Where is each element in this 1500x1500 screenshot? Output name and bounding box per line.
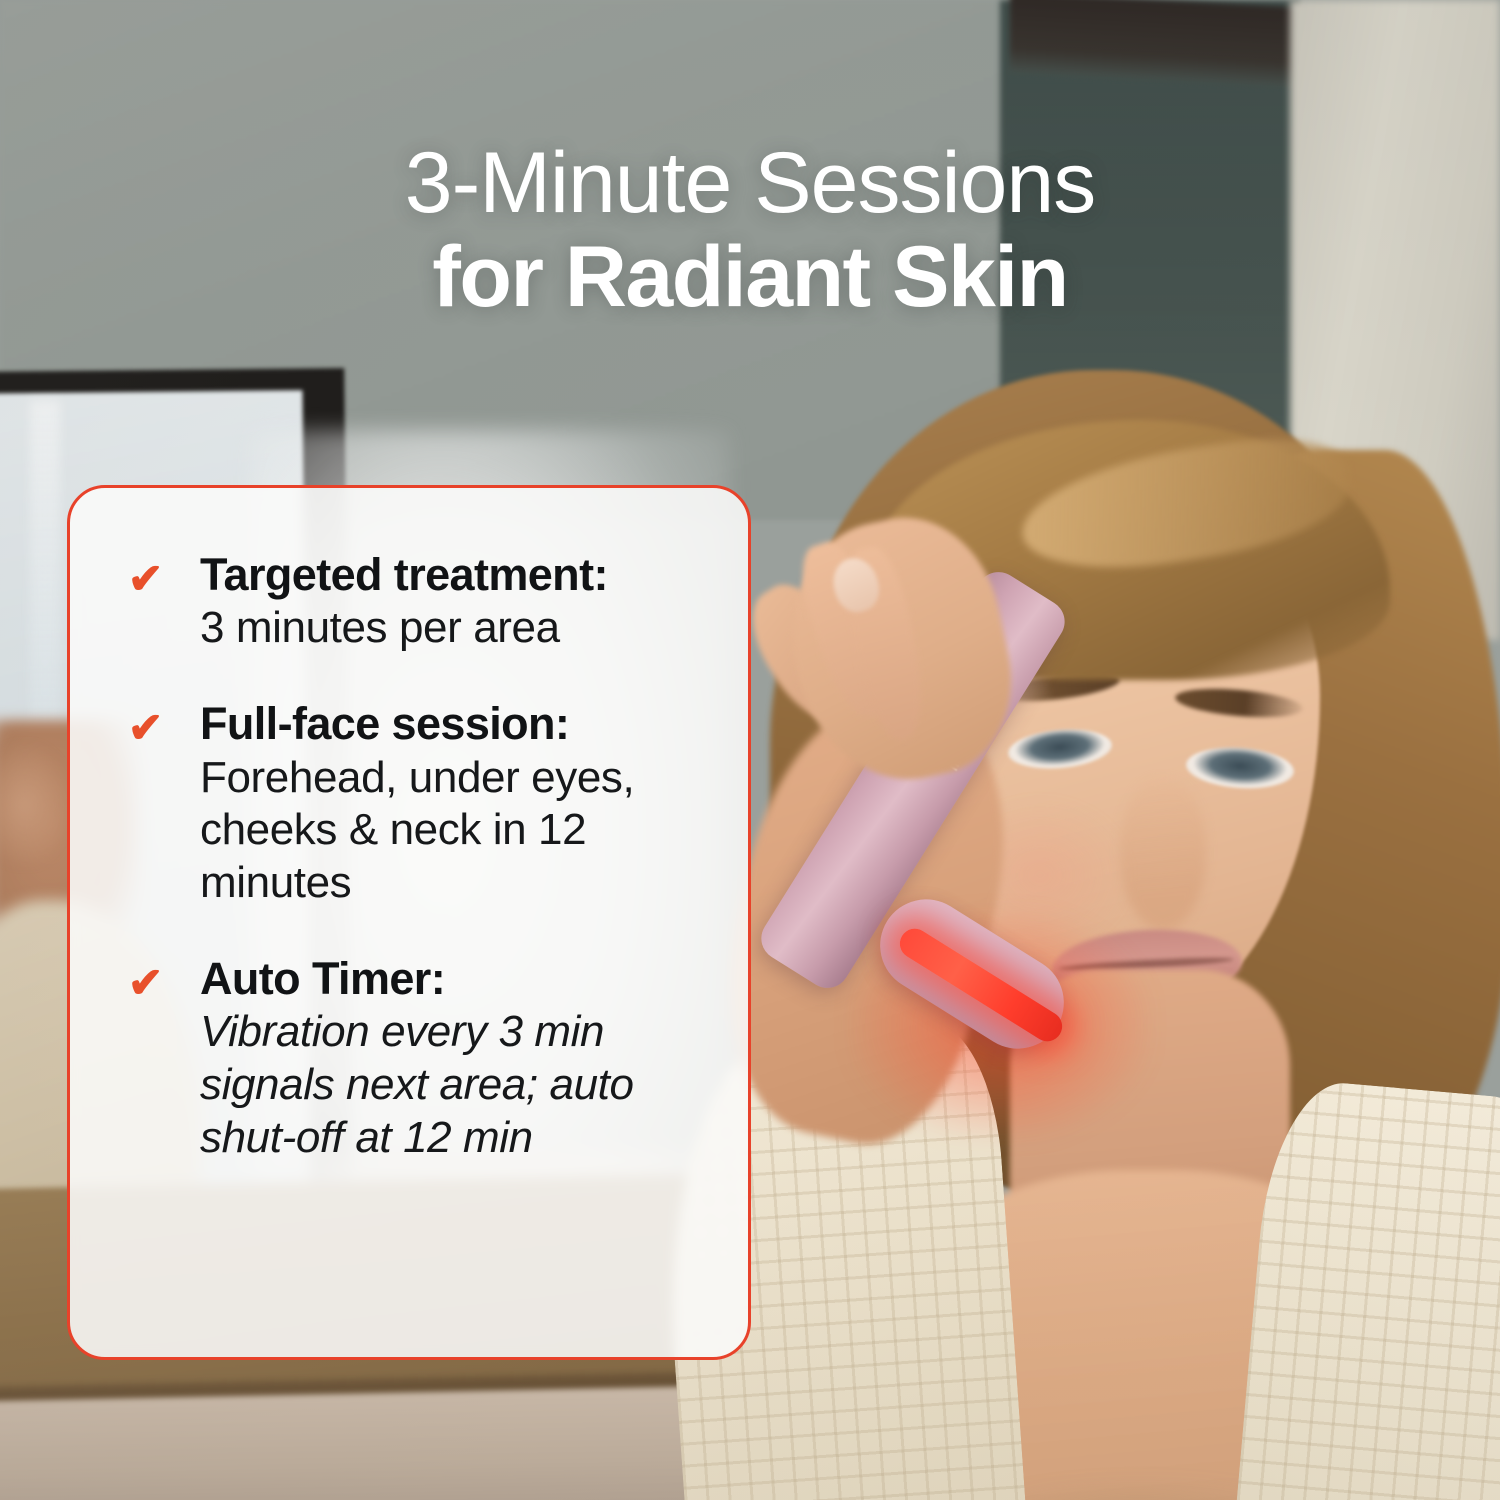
feature-body: Vibration every 3 min signals next area;…: [200, 1006, 722, 1164]
ceiling-trim: [1010, 0, 1300, 88]
model-portrait: SOLAWAVE: [620, 330, 1500, 1500]
feature-body: 3 minutes per area: [200, 602, 722, 655]
checkmark-icon: ✔: [128, 962, 174, 1004]
feature-item: ✔ Auto Timer: Vibration every 3 min sign…: [128, 954, 722, 1165]
nose: [1120, 780, 1206, 930]
product-marketing-image: SOLAWAVE 3-Minute Sessions for Radiant S…: [0, 0, 1500, 1500]
feature-text: Full-face session: Forehead, under eyes,…: [200, 699, 722, 910]
feature-item: ✔ Targeted treatment: 3 minutes per area: [128, 550, 722, 655]
feature-heading: Targeted treatment:: [200, 550, 722, 600]
feature-item: ✔ Full-face session: Forehead, under eye…: [128, 699, 722, 910]
page-title: 3-Minute Sessions for Radiant Skin: [0, 140, 1500, 321]
feature-heading: Full-face session:: [200, 699, 722, 749]
reflected-hand: [0, 745, 70, 865]
headline-line-2: for Radiant Skin: [0, 234, 1500, 322]
feature-text: Auto Timer: Vibration every 3 min signal…: [200, 954, 722, 1165]
feature-card: ✔ Targeted treatment: 3 minutes per area…: [67, 485, 751, 1360]
checkmark-icon: ✔: [128, 558, 174, 600]
feature-text: Targeted treatment: 3 minutes per area: [200, 550, 722, 655]
feature-heading: Auto Timer:: [200, 954, 722, 1004]
feature-list: ✔ Targeted treatment: 3 minutes per area…: [128, 550, 722, 1165]
feature-body: Forehead, under eyes, cheeks & neck in 1…: [200, 752, 722, 910]
checkmark-icon: ✔: [128, 707, 174, 749]
headline-line-1: 3-Minute Sessions: [0, 140, 1500, 228]
